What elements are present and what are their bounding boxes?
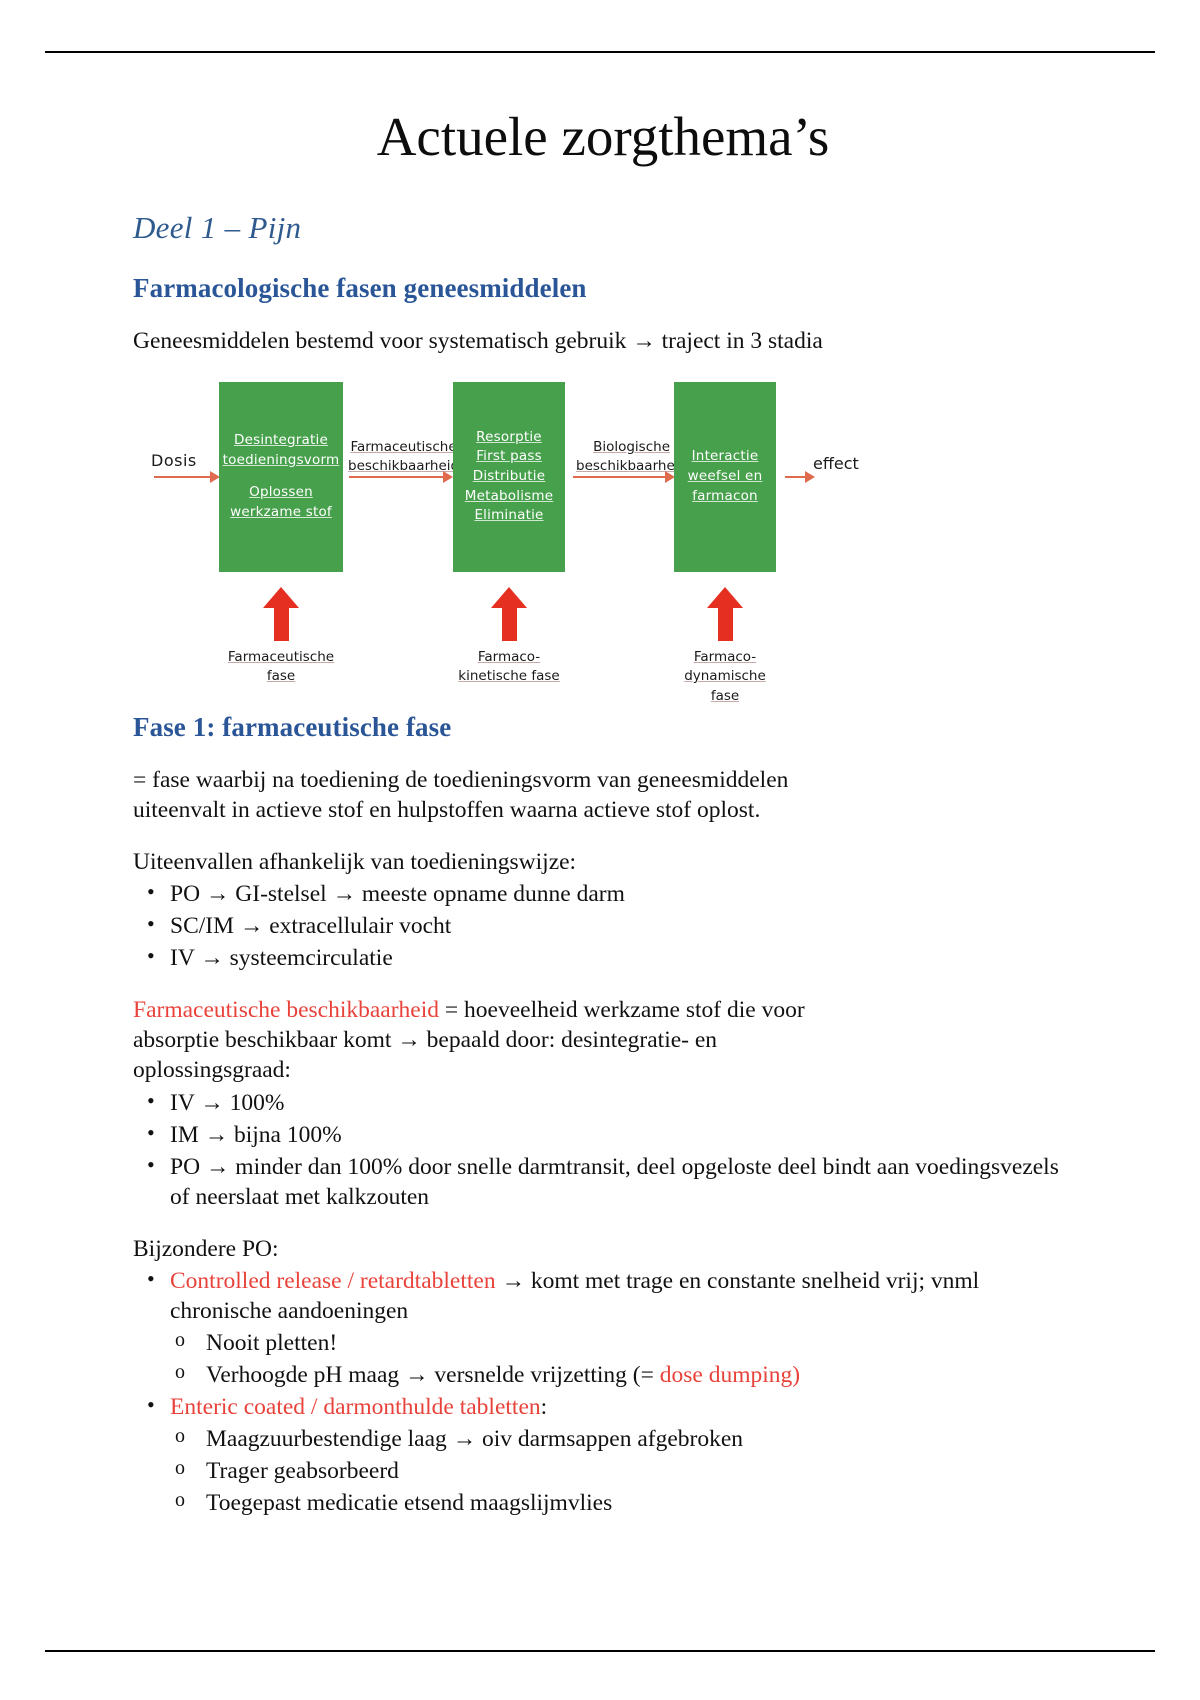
arrow-box1-to-box2: [349, 476, 445, 479]
part-heading: Deel 1 – Pijn: [133, 210, 1073, 246]
list-item: PO → GI-stelsel → meeste opname dunne da…: [133, 879, 1073, 909]
box2-line2: First pass: [476, 447, 542, 467]
up-arrow-shaft: [274, 605, 289, 641]
up-arrow-icon-farmacokinetische-fase: [491, 587, 527, 641]
list-item: Maagzuurbestendige laag → oiv darmsappen…: [170, 1424, 1073, 1454]
controlled-release-sublist: Nooit pletten! Verhoogde pH maag → versn…: [170, 1328, 1073, 1390]
up-arrow-icon-farmaceutische-fase: [263, 587, 299, 641]
connector1-line1: Farmaceutische: [348, 438, 459, 457]
up-arrow-shaft: [502, 605, 517, 641]
up-arrow-head: [707, 587, 743, 608]
phase3-line1: Farmaco-: [640, 648, 810, 668]
diagram-box-farmaceutisch: Desintegratie toedieningsvorm Oplossen w…: [219, 382, 343, 572]
header-rule: [45, 51, 1155, 53]
sub-text: Verhoogde pH maag → versnelde vrijzettin…: [206, 1362, 660, 1388]
special-term-controlled-release: Controlled release / retardtabletten: [170, 1268, 496, 1294]
up-arrow-shaft: [718, 605, 733, 641]
special-po-intro: Bijzondere PO:: [133, 1234, 1073, 1264]
administration-bullet-list: PO → GI-stelsel → meeste opname dunne da…: [133, 879, 1073, 973]
phase-label-farmacodynamische-fase: Farmaco- dynamische fase: [640, 648, 810, 707]
box2-line3: Distributie: [473, 467, 545, 487]
list-item: Controlled release / retardtabletten → k…: [133, 1266, 1073, 1390]
arrow-box2-to-box3: [573, 476, 667, 479]
up-arrow-head: [263, 587, 299, 608]
administration-intro: Uiteenvallen afhankelijk van toedienings…: [133, 847, 1073, 877]
document-content: Actuele zorgthema’s Deel 1 – Pijn Farmac…: [133, 108, 1073, 1519]
up-arrow-head: [491, 587, 527, 608]
phase1-line2: fase: [196, 667, 366, 687]
fase1-definition: = fase waarbij na toediening de toedieni…: [133, 765, 1073, 825]
availability-line1: Farmaceutische beschikbaarheid = hoeveel…: [133, 995, 1073, 1025]
availability-term: Farmaceutische beschikbaarheid: [133, 997, 439, 1023]
special-po-block: Bijzondere PO: Controlled release / reta…: [133, 1234, 1073, 1519]
list-item: Trager geabsorbeerd: [170, 1456, 1073, 1486]
list-item: Toegepast medicatie etsend maagslijmvlie…: [170, 1488, 1073, 1518]
page-title: Actuele zorgthema’s: [133, 108, 1073, 166]
phase2-line2: kinetische fase: [424, 667, 594, 687]
phase-label-farmaceutische-fase: Farmaceutische fase: [196, 648, 366, 687]
list-item: IV → 100%: [133, 1088, 1073, 1118]
availability-line2: absorptie beschikbaar komt → bepaald doo…: [133, 1025, 1073, 1055]
diagram-output-label: effect: [813, 453, 859, 475]
fase1-definition-line2: uiteenvalt in actieve stof en hulpstoffe…: [133, 795, 1073, 825]
list-item: IM → bijna 100%: [133, 1120, 1073, 1150]
section-heading-fase-1: Fase 1: farmaceutische fase: [133, 712, 1073, 743]
up-arrow-icon-farmacodynamische-fase: [707, 587, 743, 641]
phase1-line1: Farmaceutische: [196, 648, 366, 668]
special-po-list: Controlled release / retardtabletten → k…: [133, 1266, 1073, 1519]
list-item: Enteric coated / darmonthulde tabletten:…: [133, 1392, 1073, 1518]
availability-bullet-list: IV → 100% IM → bijna 100% PO → minder da…: [133, 1088, 1073, 1212]
enteric-coated-sublist: Maagzuurbestendige laag → oiv darmsappen…: [170, 1424, 1073, 1518]
box3-line1: Interactie: [692, 447, 759, 467]
availability-line3: oplossingsgraad:: [133, 1055, 1073, 1085]
list-item: SC/IM → extracellulair vocht: [133, 911, 1073, 941]
list-item: Nooit pletten!: [170, 1328, 1073, 1358]
list-item: IV → systeemcirculatie: [133, 943, 1073, 973]
list-item: PO → minder dan 100% door snelle darmtra…: [133, 1152, 1073, 1212]
intro-paragraph: Geneesmiddelen bestemd voor systematisch…: [133, 326, 1073, 356]
phase2-line1: Farmaco-: [424, 648, 594, 668]
farmacologische-fasen-diagram: Dosis Desintegratie toedieningsvorm Oplo…: [133, 380, 1073, 680]
availability-block: Farmaceutische beschikbaarheid = hoeveel…: [133, 995, 1073, 1212]
special-rest-enteric-coated: :: [541, 1394, 548, 1420]
phase3-line3: fase: [640, 687, 810, 707]
footer-rule: [45, 1650, 1155, 1652]
phase-label-farmacokinetische-fase: Farmaco- kinetische fase: [424, 648, 594, 687]
connector2-line1: Biologische: [576, 438, 687, 457]
box1-line3: Oplossen: [249, 483, 313, 503]
arrow-dosis-to-box1: [154, 476, 212, 479]
box2-line5: Eliminatie: [474, 506, 543, 526]
availability-rest-1: = hoeveelheid werkzame stof die voor: [439, 997, 805, 1023]
box3-line2: weefsel en: [688, 467, 763, 487]
diagram-box-farmacokinetisch: Resorptie First pass Distributie Metabol…: [453, 382, 565, 572]
fase1-definition-line1: = fase waarbij na toediening de toedieni…: [133, 765, 1073, 795]
section-heading-farmacologische-fasen: Farmacologische fasen geneesmiddelen: [133, 273, 1073, 304]
administration-block: Uiteenvallen afhankelijk van toedienings…: [133, 847, 1073, 973]
box1-line1: Desintegratie: [234, 431, 328, 451]
diagram-input-label: Dosis: [151, 450, 197, 472]
list-item: Verhoogde pH maag → versnelde vrijzettin…: [170, 1360, 1073, 1390]
box1-line4: werkzame stof: [230, 503, 332, 523]
box3-line3: farmacon: [692, 487, 758, 507]
diagram-box-farmacodynamisch: Interactie weefsel en farmacon: [674, 382, 776, 572]
dose-dumping-term: dose dumping: [660, 1362, 793, 1388]
special-term-enteric-coated: Enteric coated / darmonthulde tabletten: [170, 1394, 541, 1420]
phase3-line2: dynamische: [640, 667, 810, 687]
arrowhead-box1-to-box2: [443, 471, 453, 483]
document-page: Actuele zorgthema’s Deel 1 – Pijn Farmac…: [0, 0, 1200, 1700]
box1-line2: toedieningsvorm: [223, 451, 340, 471]
box2-line4: Metabolisme: [465, 487, 554, 507]
dose-dumping-tail: ): [792, 1362, 800, 1388]
box2-line1: Resorptie: [476, 428, 542, 448]
arrow-box3-to-effect: [785, 476, 807, 479]
